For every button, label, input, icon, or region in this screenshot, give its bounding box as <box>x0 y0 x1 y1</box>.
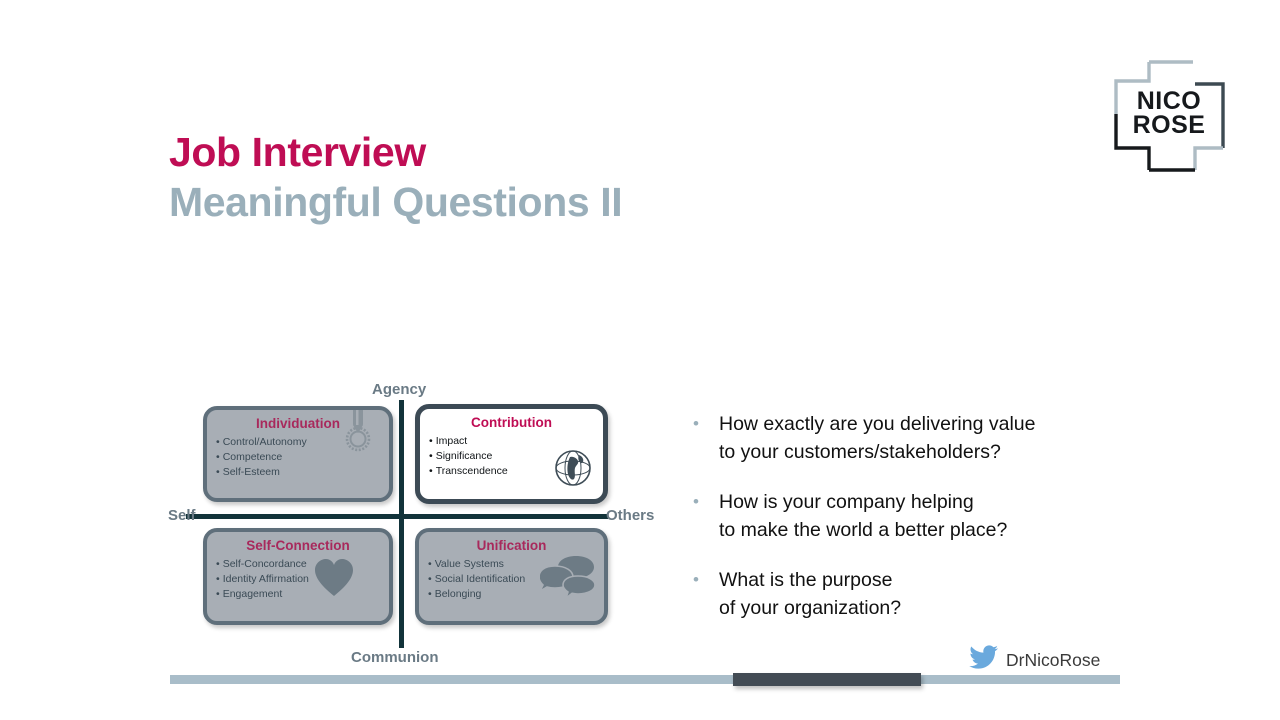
quadrant-self-connection[interactable]: Self-Connection Self-Concordance Identit… <box>203 528 393 625</box>
logo-wordmark: NICO ROSE <box>1105 52 1233 174</box>
twitter-credit[interactable]: DrNicoRose <box>969 645 1100 675</box>
quadrant-item-list: Impact Significance Transcendence <box>420 434 603 479</box>
nico-rose-logo: NICO ROSE <box>1105 52 1233 174</box>
question-item: • How is your company helping to make th… <box>693 488 1123 544</box>
quadrant-unification[interactable]: Unification Value Systems Social Identif… <box>415 528 608 625</box>
horizontal-axis <box>186 514 608 519</box>
footer-progress-track <box>170 675 1120 684</box>
quadrant-contribution[interactable]: Contribution Impact Significance Transce… <box>415 404 608 504</box>
vertical-axis <box>399 400 404 648</box>
slide-subtitle: Meaningful Questions II <box>169 178 622 226</box>
list-item: Self-Esteem <box>216 465 389 480</box>
question-item: • What is the purpose of your organizati… <box>693 566 1123 622</box>
list-item: Competence <box>216 450 389 465</box>
bullet-glyph: • <box>693 566 719 594</box>
twitter-bird-icon <box>969 645 999 675</box>
list-item: Social Identification <box>428 572 604 587</box>
list-item: Transcendence <box>429 464 603 479</box>
quadrant-title: Individuation <box>207 416 389 431</box>
list-item: Belonging <box>428 587 604 602</box>
list-item: Value Systems <box>428 557 604 572</box>
slide-canvas: NICO ROSE Job Interview Meaningful Quest… <box>0 0 1280 720</box>
list-item: Identity Affirmation <box>216 572 389 587</box>
question-text: How is your company helping to make the … <box>719 488 1007 544</box>
list-item: Self-Concordance <box>216 557 389 572</box>
axis-label-self: Self <box>168 507 196 524</box>
logo-line-1: NICO <box>1137 89 1202 113</box>
logo-line-2: ROSE <box>1133 113 1206 137</box>
quadrant-title: Unification <box>419 538 604 553</box>
question-text: How exactly are you delivering value to … <box>719 410 1036 466</box>
axis-label-communion: Communion <box>351 649 439 666</box>
list-item: Control/Autonomy <box>216 435 389 450</box>
quadrant-title: Self-Connection <box>207 538 389 553</box>
slide-title: Job Interview <box>169 128 622 176</box>
quadrant-item-list: Self-Concordance Identity Affirmation En… <box>207 557 389 602</box>
quadrant-title: Contribution <box>420 415 603 430</box>
slide-title-block: Job Interview Meaningful Questions II <box>169 128 622 227</box>
questions-list: • How exactly are you delivering value t… <box>693 410 1123 644</box>
question-item: • How exactly are you delivering value t… <box>693 410 1123 466</box>
quadrant-item-list: Control/Autonomy Competence Self-Esteem <box>207 435 389 480</box>
twitter-handle: DrNicoRose <box>1006 650 1100 671</box>
quadrant-individuation[interactable]: Individuation Control/Autonomy Competenc… <box>203 406 393 502</box>
list-item: Impact <box>429 434 603 449</box>
axis-label-agency: Agency <box>372 381 426 398</box>
bullet-glyph: • <box>693 488 719 516</box>
quadrant-item-list: Value Systems Social Identification Belo… <box>419 557 604 602</box>
list-item: Significance <box>429 449 603 464</box>
bullet-glyph: • <box>693 410 719 438</box>
question-text: What is the purpose of your organization… <box>719 566 901 622</box>
footer-progress-indicator[interactable] <box>733 673 921 686</box>
list-item: Engagement <box>216 587 389 602</box>
axis-label-others: Others <box>606 507 654 524</box>
quadrant-diagram: Agency Communion Self Others Individuati… <box>165 376 670 674</box>
